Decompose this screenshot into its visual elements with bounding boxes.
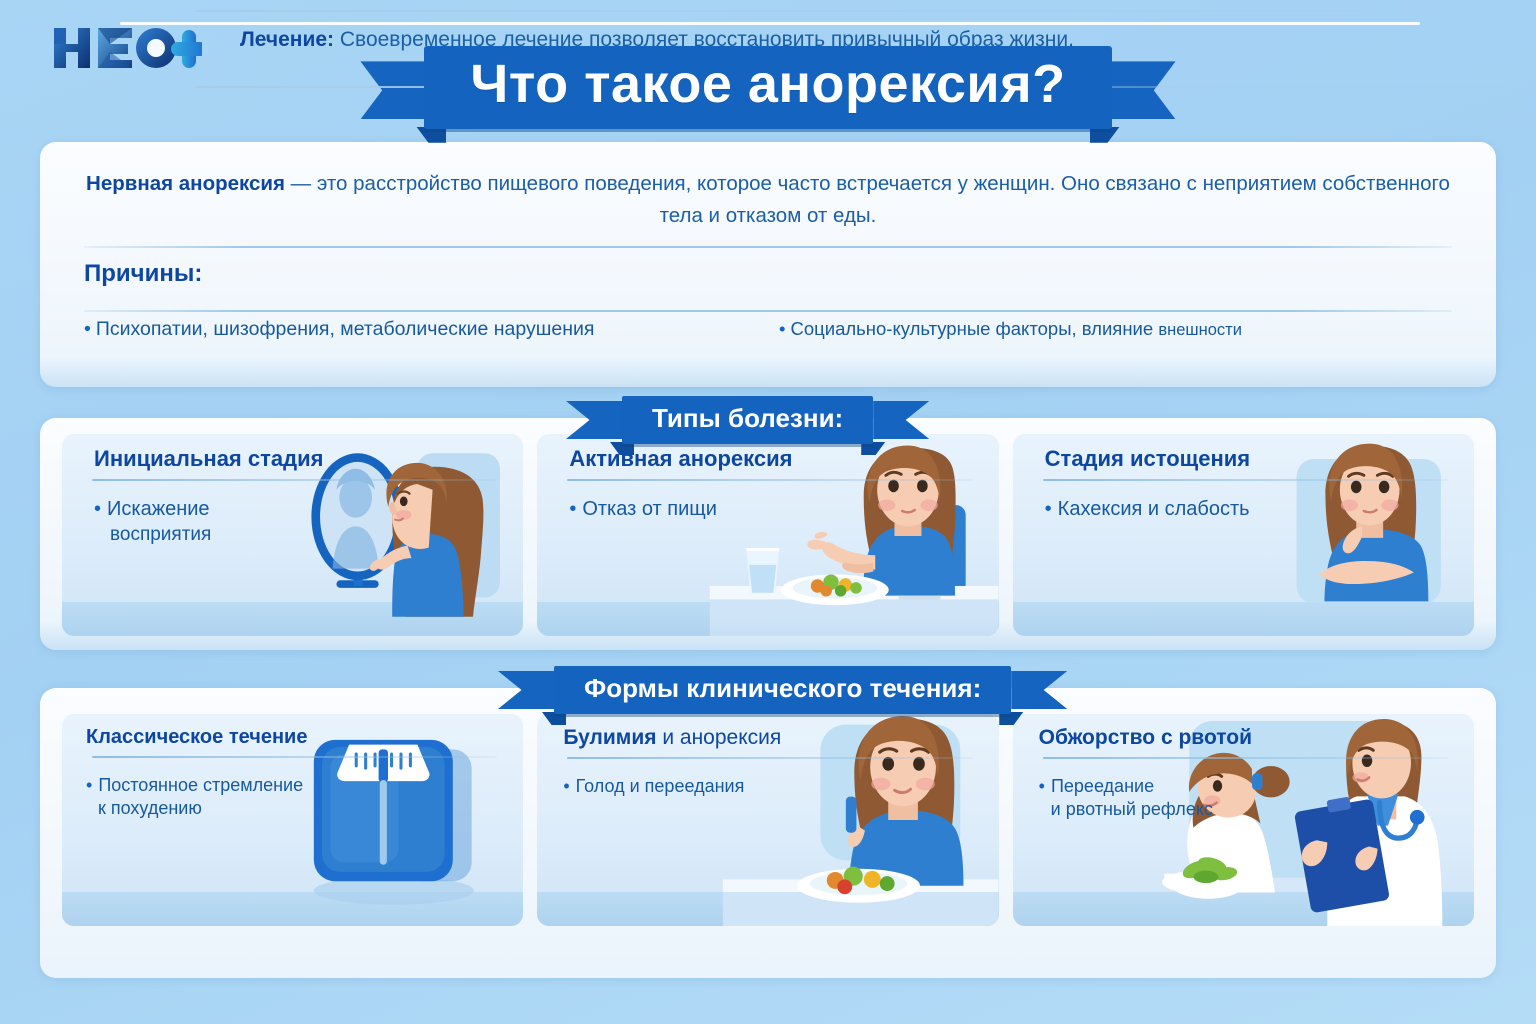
type-card-3-line1: Кахексия и слабость: [1058, 498, 1250, 520]
card-floor: [62, 892, 523, 926]
form-card-2-line1: Голод и переедания: [576, 776, 745, 796]
form-card-1-line2: к похудению: [86, 797, 523, 820]
form-card-classic: Классическое течение •Постоянное стремле…: [62, 714, 523, 926]
cause-item-2: •Социально-культурные факторы, влияние в…: [757, 318, 1452, 341]
form-card-2-heading-bold: Булимия: [563, 726, 656, 749]
page-title: Что такое анорексия?: [470, 56, 1065, 113]
ribbon-tail-right: [1011, 671, 1067, 709]
intro-paragraph: Нервная анорексия — это расстройство пищ…: [84, 168, 1452, 232]
form-card-2-heading: Булимия и анорексия: [537, 714, 998, 750]
form-card-3-heading: Обжорство с рвотой: [1013, 714, 1474, 750]
ribbon-tail-left: [498, 671, 554, 709]
footer-rule-top: [196, 10, 1510, 12]
type-card-exhaustion: Стадия истощения •Кахексия и слабость: [1013, 434, 1474, 636]
ribbon-tail-left: [566, 401, 622, 439]
form-card-bulimia: Булимия и анорексия •Голод и переедания: [537, 714, 998, 926]
bullet-icon: •: [84, 318, 91, 340]
intro-panel: Нервная анорексия — это расстройство пищ…: [40, 142, 1496, 387]
form-card-3-line2: и рвотный рефлекс: [1039, 798, 1474, 821]
panel-shade: [40, 620, 1496, 650]
form-card-2-heading-light: и анорексия: [657, 726, 782, 749]
types-banner: Типы болезни:: [566, 396, 929, 444]
neo-plus-logo: [52, 22, 202, 74]
type-card-3-heading: Стадия истощения: [1013, 434, 1474, 472]
type-card-initial: Инициальная стадия •Искажение восприятия: [62, 434, 523, 636]
intro-lead: Нервная анорексия: [86, 172, 285, 195]
card-floor: [537, 892, 998, 926]
footer-lead: Лечение:: [240, 28, 334, 51]
intro-dash: —: [285, 172, 317, 195]
forms-banner: Формы клинического течения:: [498, 666, 1067, 714]
type-card-3-body: •Кахексия и слабость: [1013, 481, 1474, 523]
form-card-3-line1: Переедание: [1051, 776, 1154, 796]
type-card-active: Активная анорексия •Отказ от пищи: [537, 434, 998, 636]
intro-body-text: это расстройство пищевого поведения, кот…: [317, 172, 1450, 227]
cause-item-1: •Психопатии, шизофрения, метаболические …: [84, 318, 757, 341]
bullet-icon: •: [86, 775, 92, 795]
ribbon-tail-right: [873, 401, 929, 439]
form-card-1-heading: Классическое течение: [62, 714, 523, 749]
type-card-1-line2: восприятия: [94, 523, 523, 547]
forms-banner-label: Формы клинического течения:: [584, 673, 981, 704]
form-card-2-body: •Голод и переедания: [537, 759, 998, 798]
type-card-1-body: •Искажение восприятия: [62, 481, 523, 547]
type-card-2-line1: Отказ от пищи: [582, 498, 717, 520]
causes-heading: Причины:: [40, 248, 1496, 296]
causes-list: •Психопатии, шизофрения, метаболические …: [40, 312, 1496, 341]
ribbon-fold-right: [1090, 127, 1120, 143]
panel-shade: [40, 357, 1496, 387]
form-card-3-body: •Переедание и рвотный рефлекс: [1013, 759, 1474, 821]
form-card-1-body: •Постоянное стремление к похудению: [62, 758, 523, 820]
ribbon-fold-left: [416, 127, 446, 143]
bullet-icon: •: [563, 776, 569, 796]
type-card-2-body: •Отказ от пищи: [537, 481, 998, 523]
cause-2-text: Социально-культурные факторы, влияние: [790, 318, 1153, 339]
form-card-1-line1: Постоянное стремление: [98, 775, 303, 795]
form-card-binge-vomit: Обжорство с рвотой •Переедание и рвотный…: [1013, 714, 1474, 926]
infographic-root: Что такое анорексия? Нервная анорексия —…: [0, 0, 1536, 1024]
bullet-icon: •: [1039, 776, 1045, 796]
bullet-icon: •: [1045, 498, 1052, 520]
card-floor: [1013, 892, 1474, 926]
bullet-icon: •: [569, 498, 576, 520]
cause-1-text: Психопатии, шизофрения, метаболические н…: [96, 318, 595, 340]
cause-2-text-cont: внешности: [1158, 321, 1242, 339]
bullet-icon: •: [94, 498, 101, 520]
bullet-icon: •: [779, 318, 785, 339]
type-card-1-heading: Инициальная стадия: [62, 434, 523, 472]
forms-panel: Классическое течение •Постоянное стремле…: [40, 688, 1496, 978]
types-banner-label: Типы болезни:: [652, 403, 843, 434]
types-panel: Инициальная стадия •Искажение восприятия: [40, 418, 1496, 650]
type-card-1-line1: Искажение: [107, 498, 210, 520]
